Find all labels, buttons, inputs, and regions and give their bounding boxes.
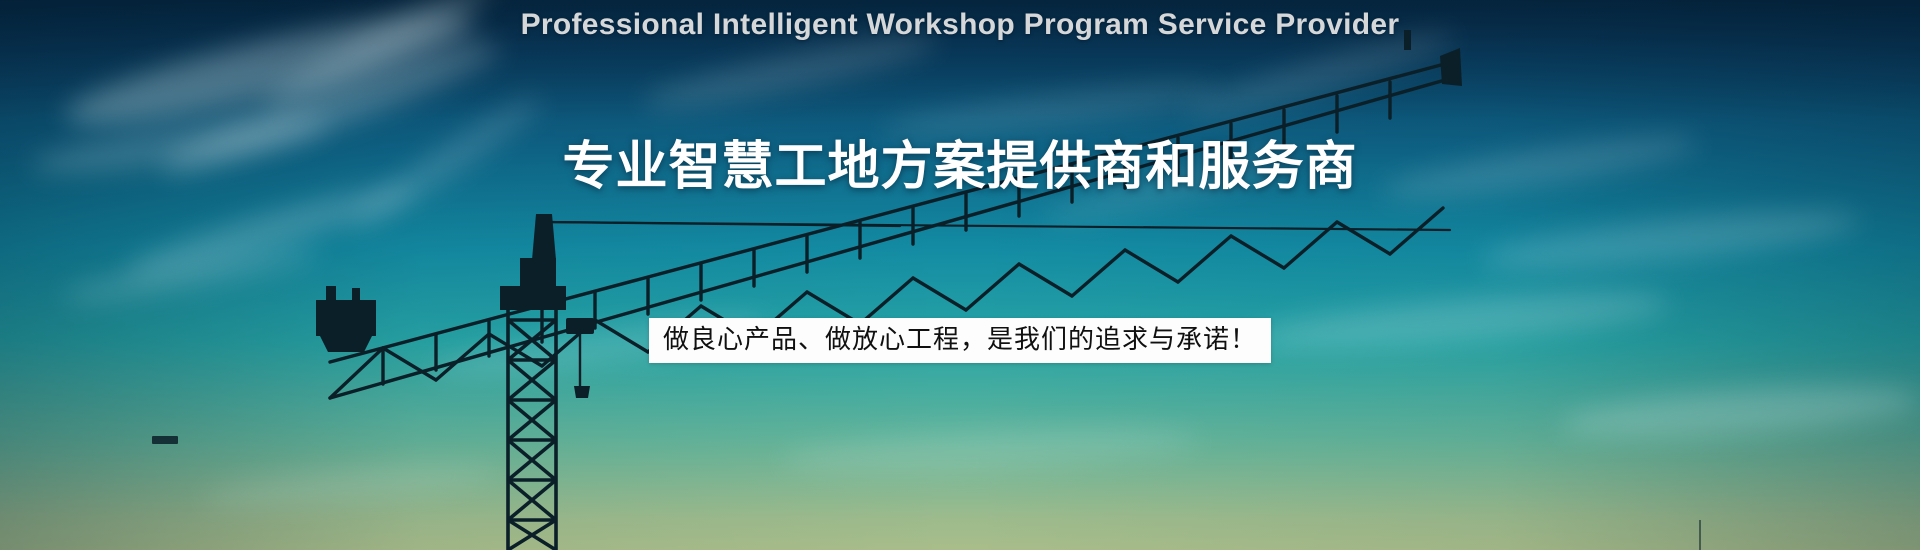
banner-subtitle-container: 做良心产品、做放心工程，是我们的追求与承诺！ <box>0 318 1920 363</box>
tower-crane-silhouette <box>0 0 1920 550</box>
hero-banner: Professional Intelligent Workshop Progra… <box>0 0 1920 550</box>
banner-eyebrow-text: Professional Intelligent Workshop Progra… <box>0 8 1920 42</box>
banner-headline: 专业智慧工地方案提供商和服务商 <box>0 124 1920 199</box>
banner-subtitle: 做良心产品、做放心工程，是我们的追求与承诺！ <box>649 318 1271 363</box>
